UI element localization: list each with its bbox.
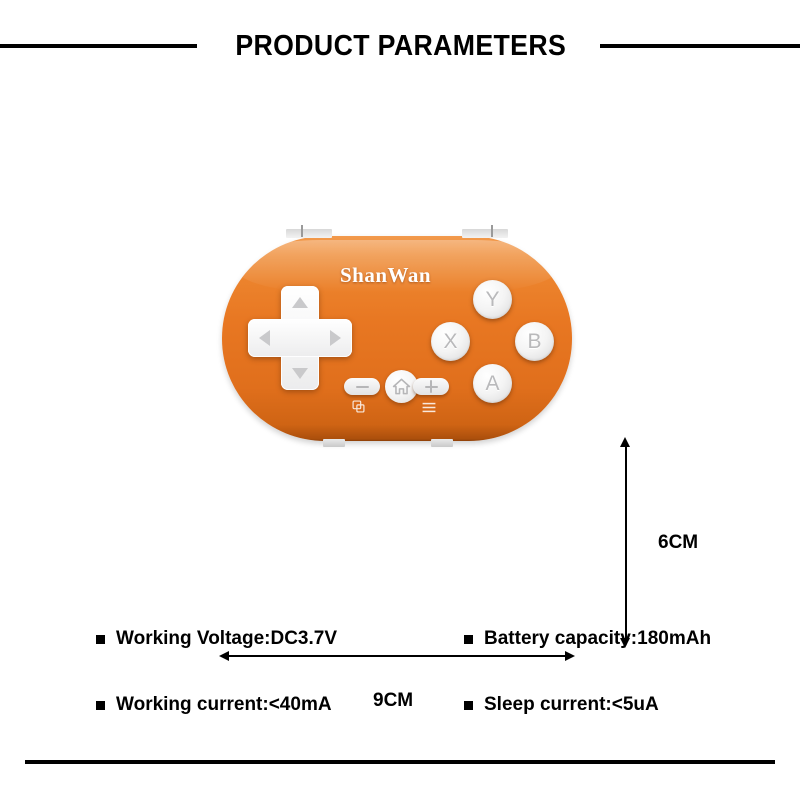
product-figure: ShanWan Y X B A bbox=[0, 200, 800, 530]
height-arrow-top bbox=[620, 437, 630, 447]
width-arrow-left bbox=[219, 651, 229, 661]
button-x[interactable]: X bbox=[431, 322, 470, 361]
triangle-right-icon[interactable] bbox=[330, 330, 341, 346]
plus-icon bbox=[425, 380, 438, 393]
triangle-left-icon[interactable] bbox=[259, 330, 270, 346]
header-rule-left bbox=[0, 44, 197, 48]
button-y-label: Y bbox=[485, 288, 499, 312]
capture-icon[interactable] bbox=[352, 400, 365, 413]
height-dimension-line bbox=[625, 442, 627, 644]
spec-item: Working current:<40mA bbox=[96, 694, 332, 716]
spec-item: Battery capacity:180mAh bbox=[464, 628, 711, 650]
button-b-label: B bbox=[527, 330, 541, 354]
bullet-square-icon bbox=[96, 635, 105, 644]
bullet-square-icon bbox=[464, 701, 473, 710]
minus-button[interactable] bbox=[344, 378, 380, 395]
page-title: PRODUCT PARAMETERS bbox=[236, 30, 567, 63]
footer-rule bbox=[25, 760, 775, 764]
plus-button[interactable] bbox=[413, 378, 449, 395]
page-header: PRODUCT PARAMETERS bbox=[0, 22, 800, 70]
minus-icon bbox=[356, 380, 369, 393]
button-a[interactable]: A bbox=[473, 364, 512, 403]
antenna-pin-left bbox=[301, 225, 303, 237]
button-a-label: A bbox=[485, 372, 499, 396]
menu-icon[interactable] bbox=[422, 402, 436, 413]
header-rule-right bbox=[600, 44, 800, 48]
spec-item: Working Voltage:DC3.7V bbox=[96, 628, 337, 650]
brand-logo: ShanWan bbox=[340, 263, 431, 288]
spec-item: Sleep current:<5uA bbox=[464, 694, 659, 716]
antenna-pin-right bbox=[491, 225, 493, 237]
bottom-tab-left bbox=[323, 439, 345, 447]
button-b[interactable]: B bbox=[515, 322, 554, 361]
width-dimension-label: 9CM bbox=[373, 690, 413, 712]
button-y[interactable]: Y bbox=[473, 280, 512, 319]
spec-label: Working Voltage:DC3.7V bbox=[116, 628, 337, 650]
bullet-square-icon bbox=[96, 701, 105, 710]
bullet-square-icon bbox=[464, 635, 473, 644]
dpad[interactable] bbox=[248, 286, 352, 390]
width-arrow-right bbox=[565, 651, 575, 661]
button-x-label: X bbox=[443, 330, 457, 354]
triangle-down-icon[interactable] bbox=[292, 368, 308, 379]
spec-label: Sleep current:<5uA bbox=[484, 694, 659, 716]
house-icon bbox=[392, 377, 411, 396]
height-dimension-label: 6CM bbox=[658, 532, 698, 554]
game-controller: ShanWan Y X B A bbox=[222, 236, 572, 441]
spec-label: Working current:<40mA bbox=[116, 694, 332, 716]
bottom-tab-right bbox=[431, 439, 453, 447]
triangle-up-icon[interactable] bbox=[292, 297, 308, 308]
spec-label: Battery capacity:180mAh bbox=[484, 628, 711, 650]
shoulder-button-right[interactable] bbox=[462, 229, 508, 238]
shoulder-button-left[interactable] bbox=[286, 229, 332, 238]
width-dimension-line bbox=[224, 655, 572, 657]
